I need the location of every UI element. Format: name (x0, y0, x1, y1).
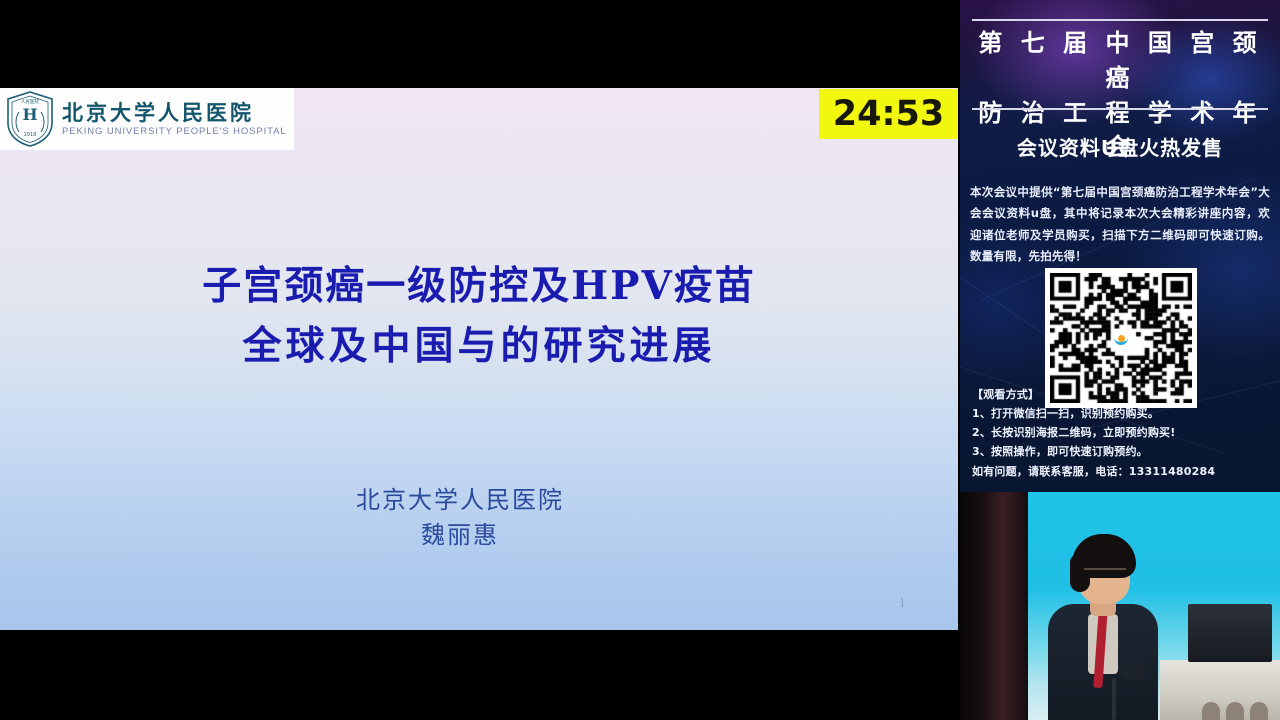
presentation-slide[interactable]: H 1918 人民医院 北京大学人民医院 PEKING UNIVERSITY P… (0, 88, 958, 630)
speaker-video-feed[interactable] (960, 492, 1280, 720)
conference-title-line-1: 第 七 届 中 国 宫 颈 癌 (960, 26, 1280, 96)
hospital-name-cn: 北京大学人民医院 (62, 101, 287, 124)
speaker-hand (1120, 660, 1146, 680)
svg-text:H: H (22, 105, 37, 124)
promo-heading: 会议资料U盘火热发售 (960, 132, 1280, 161)
podium-cable (1112, 678, 1116, 720)
speaker-name: 魏丽惠 (0, 518, 920, 553)
qr-logo-arc-icon (1114, 337, 1128, 345)
qr-center-logo-icon (1112, 329, 1130, 347)
divider-bottom (972, 108, 1268, 110)
hospital-logo-text: 北京大学人民医院 PEKING UNIVERSITY PEOPLE'S HOSP… (62, 101, 287, 137)
hospital-logo-band: H 1918 人民医院 北京大学人民医院 PEKING UNIVERSITY P… (0, 88, 294, 150)
promo-body-text: 本次会议中提供“第七届中国宫颈癌防治工程学术年会”大会会议资料u盘，其中将记录本… (970, 182, 1270, 267)
speaker-organization: 北京大学人民医院 (0, 483, 920, 518)
slide-pane[interactable]: H 1918 人民医院 北京大学人民医院 PEKING UNIVERSITY P… (0, 0, 960, 720)
qr-code[interactable] (1045, 268, 1197, 408)
hospital-crest-icon: H 1918 人民医院 (4, 90, 56, 148)
countdown-timer: 24:53 (819, 89, 958, 139)
sidebar: 第 七 届 中 国 宫 颈 癌 防 治 工 程 学 术 年 会 会议资料U盘火热… (960, 0, 1280, 720)
promo-panel: 第 七 届 中 国 宫 颈 癌 防 治 工 程 学 术 年 会 会议资料U盘火热… (960, 0, 1280, 492)
countdown-timer-value: 24:53 (833, 97, 944, 132)
laptop (1188, 604, 1272, 662)
divider-top (972, 19, 1268, 21)
speaker-glasses (1084, 568, 1126, 577)
broadcast-window: H 1918 人民医院 北京大学人民医院 PEKING UNIVERSITY P… (0, 0, 1280, 720)
audience-head (1250, 702, 1268, 720)
slide-page-number: 1 (899, 595, 907, 612)
howto-step-2: 2、长按识别海报二维码，立即预约购买! (972, 423, 1272, 442)
slide-title-line-2: 全球及中国与的研究进展 (0, 316, 958, 376)
audience-heads (1200, 698, 1280, 720)
svg-text:1918: 1918 (24, 132, 37, 138)
howto-step-3: 3、按照操作，即可快速订购预约。 (972, 442, 1272, 461)
slide-title: 子宫颈癌一级防控及HPV疫苗 全球及中国与的研究进展 (0, 256, 958, 377)
slide-title-line-1: 子宫颈癌一级防控及HPV疫苗 (0, 256, 958, 316)
howto-contact: 如有问题，请联系客服，电话：13311480284 (972, 462, 1272, 481)
slide-speaker-block: 北京大学人民医院 魏丽惠 (0, 483, 920, 553)
stage-curtain (960, 492, 1028, 720)
hospital-name-en: PEKING UNIVERSITY PEOPLE'S HOSPITAL (62, 126, 287, 137)
svg-text:人民医院: 人民医院 (21, 98, 39, 105)
audience-head (1226, 702, 1244, 720)
qr-code-frame[interactable] (1045, 268, 1197, 408)
audience-head (1202, 702, 1220, 720)
